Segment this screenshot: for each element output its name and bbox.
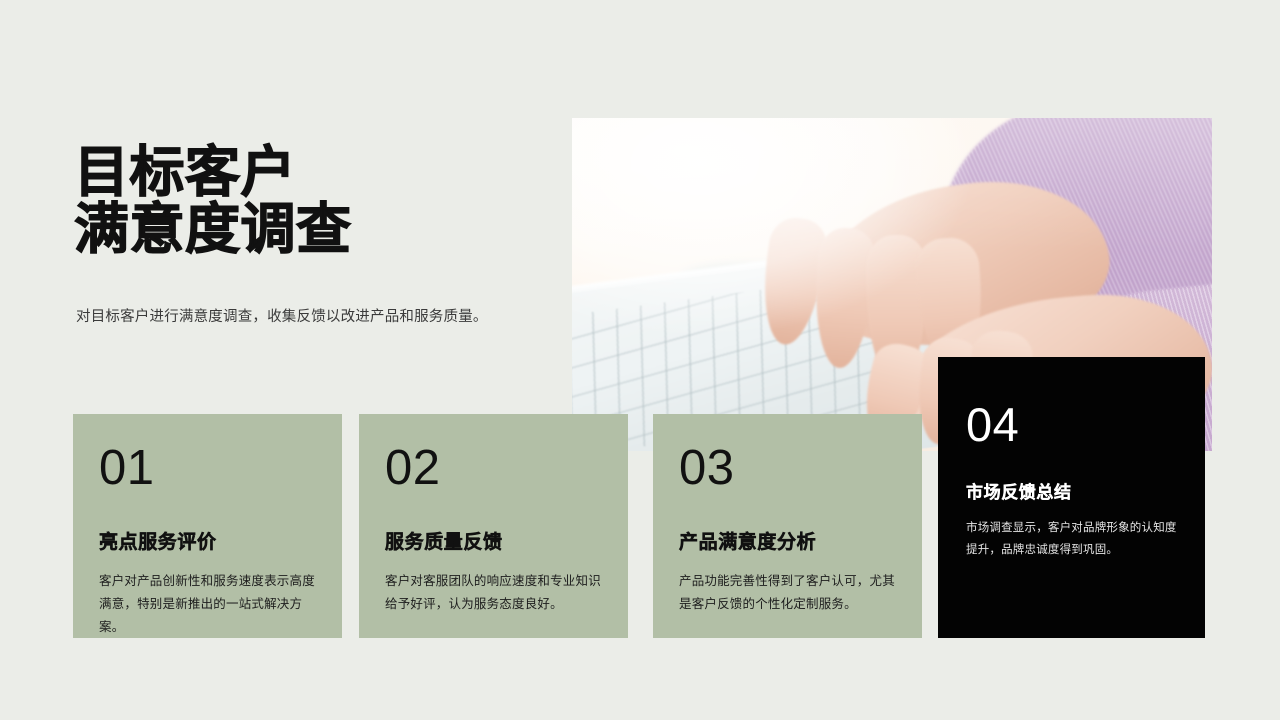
card-body: 市场调查显示，客户对品牌形象的认知度提升，品牌忠诚度得到巩固。 (966, 517, 1179, 562)
card-body: 客户对客服团队的响应速度和专业知识给予好评，认为服务态度良好。 (385, 570, 602, 616)
slide-root: 目标客户 满意度调查 对目标客户进行满意度调查，收集反馈以改进产品和服务质量。 … (0, 0, 1280, 720)
card-title: 市场反馈总结 (966, 478, 1179, 503)
card-02[interactable]: 02 服务质量反馈 客户对客服团队的响应速度和专业知识给予好评，认为服务态度良好… (359, 414, 628, 638)
card-body: 产品功能完善性得到了客户认可，尤其是客户反馈的个性化定制服务。 (679, 570, 896, 616)
page-subtitle: 对目标客户进行满意度调查，收集反馈以改进产品和服务质量。 (76, 305, 596, 326)
card-title: 服务质量反馈 (385, 527, 602, 554)
page-title-line-2: 满意度调查 (74, 201, 544, 258)
page-title-line-1: 目标客户 (74, 144, 544, 201)
page-title: 目标客户 满意度调查 (74, 144, 544, 258)
card-title: 产品满意度分析 (679, 527, 896, 554)
card-01[interactable]: 01 亮点服务评价 客户对产品创新性和服务速度表示高度满意，特别是新推出的一站式… (73, 414, 342, 638)
card-03[interactable]: 03 产品满意度分析 产品功能完善性得到了客户认可，尤其是客户反馈的个性化定制服… (653, 414, 922, 638)
card-04[interactable]: 04 市场反馈总结 市场调查显示，客户对品牌形象的认知度提升，品牌忠诚度得到巩固… (938, 357, 1205, 638)
card-number: 02 (385, 444, 602, 493)
card-number: 04 (966, 401, 1179, 448)
card-body: 客户对产品创新性和服务速度表示高度满意，特别是新推出的一站式解决方案。 (99, 570, 316, 639)
card-number: 01 (99, 444, 316, 493)
card-number: 03 (679, 444, 896, 493)
card-title: 亮点服务评价 (99, 527, 316, 554)
